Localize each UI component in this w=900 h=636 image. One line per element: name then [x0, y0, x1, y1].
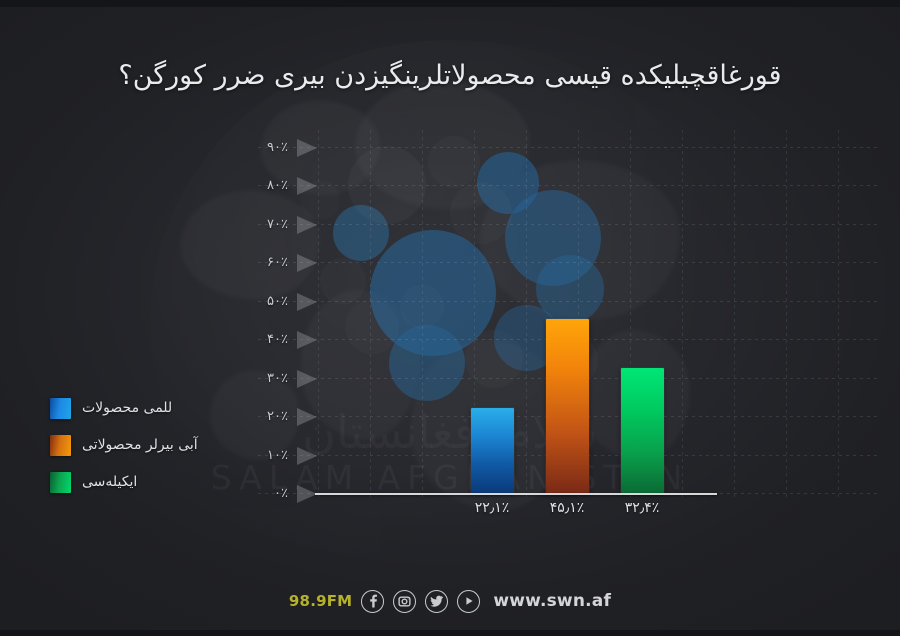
- y-axis-marker-90: [297, 139, 317, 157]
- y-axis-marker-80: [297, 177, 317, 195]
- bar-value-label-3: ۳۲٫۴٪: [597, 500, 687, 516]
- y-axis-tick-10: ۱۰٪: [240, 448, 288, 463]
- legend-item-rainfed-crops[interactable]: للمى محصولات: [50, 398, 198, 418]
- y-axis-marker-30: [297, 370, 317, 388]
- y-axis-marker-0: [297, 485, 317, 503]
- y-axis-tick-80: ۸۰٪: [240, 178, 288, 193]
- y-axis-tick-70: ۷۰٪: [240, 217, 288, 232]
- bar-both: [621, 368, 664, 493]
- instagram-icon[interactable]: [393, 590, 416, 613]
- y-axis-marker-10: [297, 447, 317, 465]
- legend-item-irrigated-crops[interactable]: آبى بيرلر محصولاتى: [50, 435, 198, 455]
- legend-swatch-green: [50, 472, 71, 493]
- legend-label-rainfed-crops: للمى محصولات: [82, 400, 172, 416]
- y-axis-tick-40: ۴۰٪: [240, 332, 288, 347]
- legend-item-both[interactable]: ايكيلەسى: [50, 472, 198, 492]
- y-axis-tick-0: ۰٪: [240, 486, 288, 501]
- y-axis-marker-20: [297, 408, 317, 426]
- chart-plot-area: ۹۰٪ ۸۰٪ ۷۰٪ ۶۰٪ ۵۰٪ ۴۰٪ ۳۰٪ ۲۰٪ ۱۰٪ ۰٪ ۲…: [0, 0, 900, 636]
- y-axis-marker-70: [297, 216, 317, 234]
- y-axis-tick-50: ۵۰٪: [240, 294, 288, 309]
- y-axis-marker-60: [297, 254, 317, 272]
- top-letterbox-band: [0, 0, 900, 7]
- legend-label-irrigated-crops: آبى بيرلر محصولاتى: [82, 437, 198, 453]
- bottom-letterbox-band: [0, 630, 900, 636]
- y-axis-marker-40: [297, 331, 317, 349]
- page-title: قورغاقچیلیکده قیسی محصولاتلرینگیزدن بیری…: [60, 58, 840, 94]
- footer-bar: 98.9FM www.swn.af: [0, 588, 900, 614]
- y-axis-tick-30: ۳۰٪: [240, 371, 288, 386]
- radio-frequency-label: 98.9FM: [289, 592, 352, 610]
- y-axis-tick-90: ۹۰٪: [240, 140, 288, 155]
- youtube-icon[interactable]: [457, 590, 480, 613]
- twitter-icon[interactable]: [425, 590, 448, 613]
- website-url[interactable]: www.swn.af: [493, 591, 611, 611]
- y-axis-tick-20: ۲۰٪: [240, 409, 288, 424]
- y-axis-marker-50: [297, 293, 317, 311]
- bar-rainfed-crops: [471, 408, 514, 493]
- infographic-canvas: سلام افغانستان SALAM AFGHANISTAN قورغاقچ…: [0, 0, 900, 636]
- facebook-icon[interactable]: [361, 590, 384, 613]
- legend-label-both: ايكيلەسى: [82, 474, 137, 490]
- x-axis-line: [315, 493, 717, 495]
- bar-irrigated-crops: [546, 319, 589, 493]
- legend-swatch-orange: [50, 435, 71, 456]
- chart-legend: للمى محصولات آبى بيرلر محصولاتى ايكيلەسى: [50, 398, 198, 509]
- legend-swatch-blue: [50, 398, 71, 419]
- y-axis-tick-60: ۶۰٪: [240, 255, 288, 270]
